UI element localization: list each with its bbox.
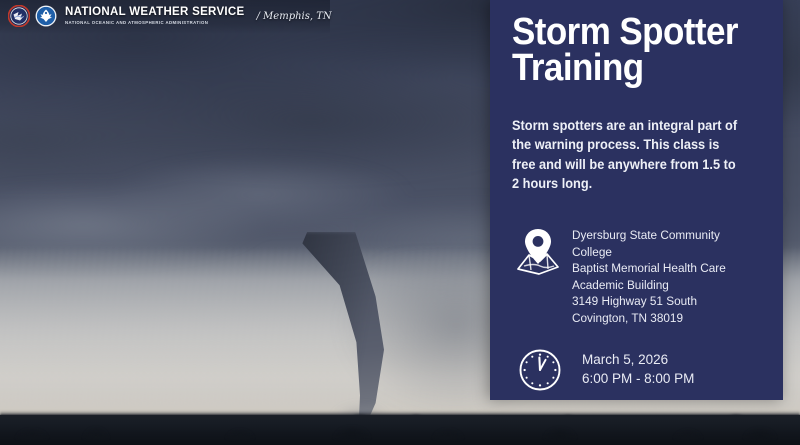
tree-silhouettes bbox=[0, 417, 800, 439]
agency-text: NATIONAL WEATHER SERVICE NATIONAL OCEANI… bbox=[65, 7, 245, 25]
nws-seal-icon bbox=[8, 5, 30, 27]
funnel-shade bbox=[300, 232, 420, 422]
tornado-funnel bbox=[300, 232, 420, 422]
noaa-seal-icon bbox=[35, 5, 57, 27]
map-pin-icon bbox=[516, 225, 560, 275]
agency-name: NATIONAL WEATHER SERVICE bbox=[65, 7, 245, 19]
clock-icon bbox=[518, 348, 562, 392]
event-info-panel: Storm Spotter Training Storm spotters ar… bbox=[490, 0, 783, 400]
datetime-text: March 5, 2026 6:00 PM - 8:00 PM bbox=[582, 351, 694, 389]
event-description: Storm spotters are an integral part of t… bbox=[512, 116, 748, 193]
location-text: Dyersburg State Community College Baptis… bbox=[572, 225, 753, 326]
nws-branding: NATIONAL WEATHER SERVICE NATIONAL OCEANI… bbox=[0, 0, 340, 32]
office-label: / Memphis, TN bbox=[257, 11, 332, 22]
datetime-row: March 5, 2026 6:00 PM - 8:00 PM bbox=[512, 348, 763, 392]
location-row: Dyersburg State Community College Baptis… bbox=[512, 225, 763, 326]
page-title: Storm Spotter Training bbox=[512, 14, 743, 86]
agency-subtitle: NATIONAL OCEANIC AND ATMOSPHERIC ADMINIS… bbox=[65, 20, 245, 25]
